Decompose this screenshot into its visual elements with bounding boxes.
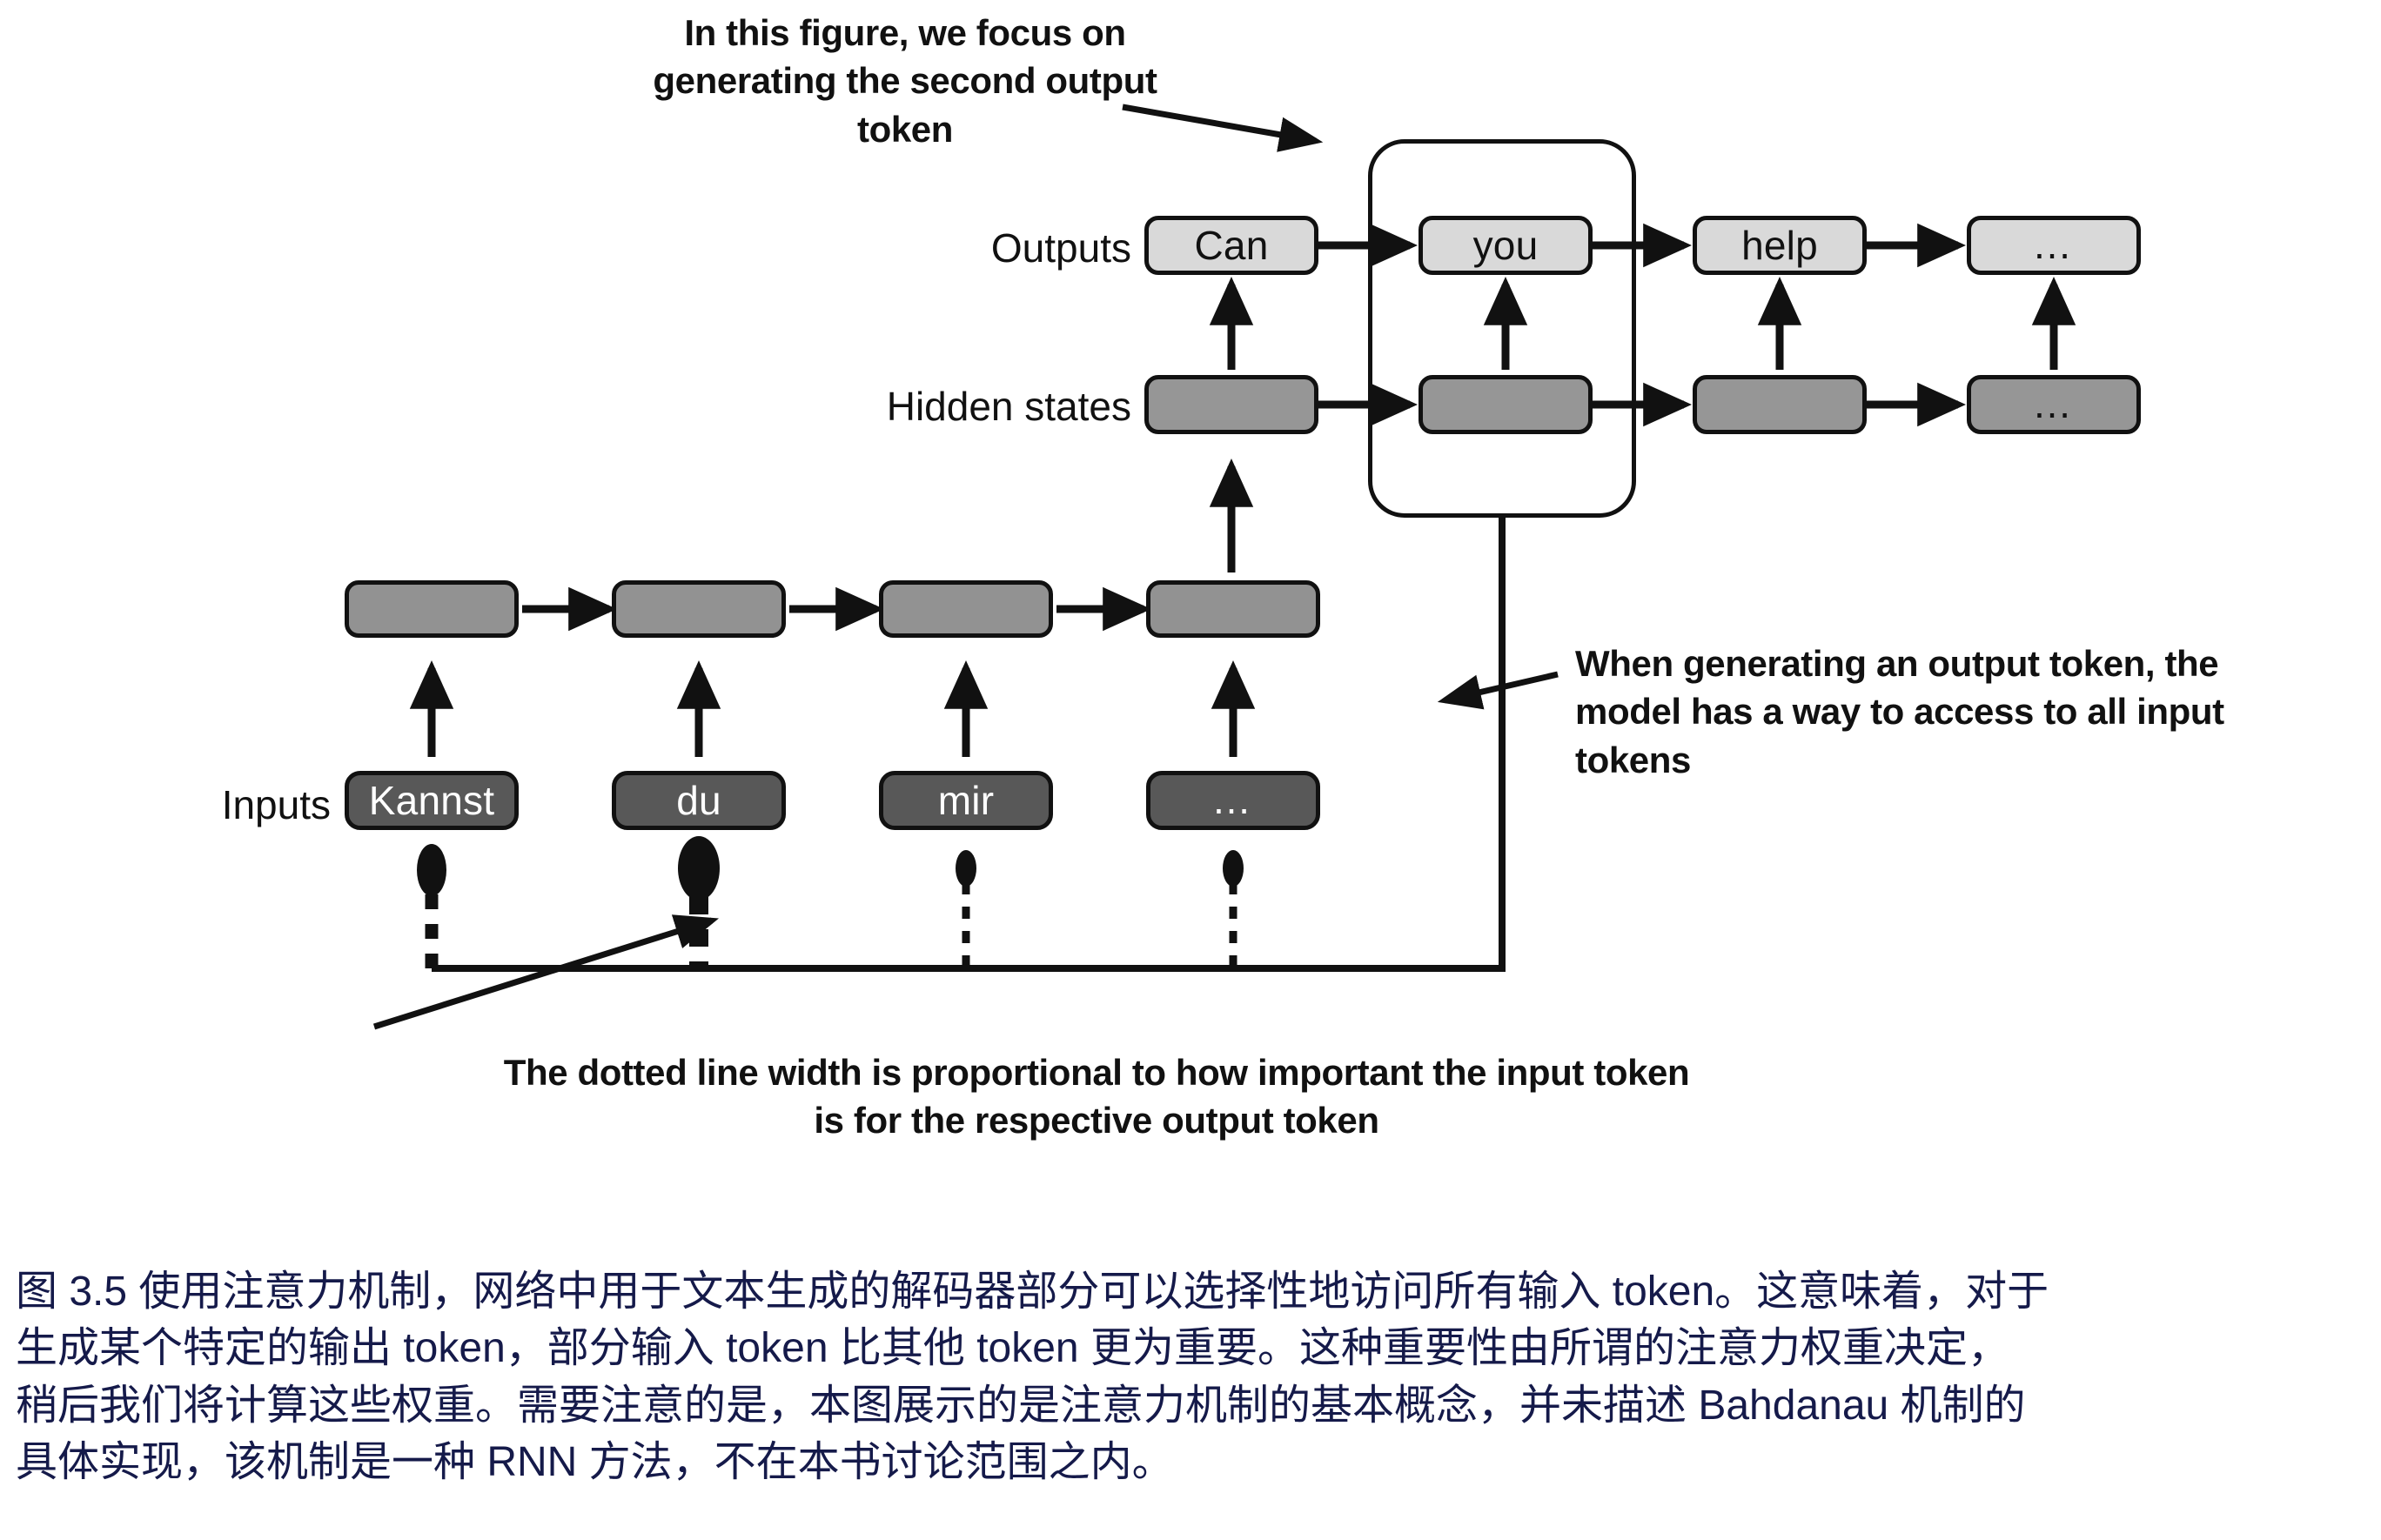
input-token-mir-label: mir xyxy=(938,777,994,824)
attention-line-du xyxy=(678,836,720,968)
output-token-1[interactable]: Can xyxy=(1144,216,1318,275)
output-token-1-label: Can xyxy=(1195,222,1269,269)
hidden-to-output-arrows xyxy=(1231,285,2054,370)
caption-line-1: 图 3.5 使用注意力机制，网络中用于文本生成的解码器部分可以选择性地访问所有输… xyxy=(16,1263,2365,1320)
callout-access-all-input-tokens: When generating an output token, the mod… xyxy=(1575,639,2289,784)
input-token-ellipsis-label: … xyxy=(1211,788,1255,813)
row-label-hidden-states: Hidden states xyxy=(801,383,1131,430)
output-token-3[interactable]: help xyxy=(1693,216,1867,275)
caption-line-4: 具体实现，该机制是一种 RNN 方法，不在本书讨论范围之内。 xyxy=(16,1434,2365,1490)
hidden-state-3[interactable] xyxy=(1693,375,1867,434)
attention-line-mir xyxy=(956,850,976,968)
attention-line-kannst xyxy=(417,844,446,968)
row-label-outputs: Outputs xyxy=(905,224,1131,271)
input-token-du-label: du xyxy=(676,777,721,824)
callout-dotted-line-width: The dotted line width is proportional to… xyxy=(487,1048,1706,1145)
attention-line-ellipsis xyxy=(1223,850,1244,968)
encoder-state-2[interactable] xyxy=(612,580,786,638)
figure-page: Outputs Hidden states Inputs Can you hel… xyxy=(0,0,2381,1540)
encoder-state-4[interactable] xyxy=(1146,580,1320,638)
caption-line-3: 稍后我们将计算这些权重。需要注意的是，本图展示的是注意力机制的基本概念，并未描述… xyxy=(16,1377,2365,1434)
input-to-encoder-arrows xyxy=(432,668,1233,757)
focus-frame-second-output-token xyxy=(1368,139,1636,518)
hidden-state-2[interactable] xyxy=(1419,375,1593,434)
input-token-mir[interactable]: mir xyxy=(879,771,1053,830)
input-token-kannst[interactable]: Kannst xyxy=(345,771,519,830)
output-token-3-label: help xyxy=(1741,222,1818,269)
hidden-state-4[interactable]: … xyxy=(1967,375,2141,434)
output-token-4[interactable]: … xyxy=(1967,216,2141,275)
attention-diagram: Outputs Hidden states Inputs Can you hel… xyxy=(0,0,2381,1218)
callout-focus-second-output-token: In this figure, we focus on generating t… xyxy=(644,9,1166,153)
figure-caption: 图 3.5 使用注意力机制，网络中用于文本生成的解码器部分可以选择性地访问所有输… xyxy=(16,1263,2365,1490)
output-token-2-label: you xyxy=(1473,222,1539,269)
hidden-state-1[interactable] xyxy=(1144,375,1318,434)
output-token-4-label: … xyxy=(2032,233,2076,258)
input-token-du[interactable]: du xyxy=(612,771,786,830)
encoder-state-1[interactable] xyxy=(345,580,519,638)
callout-bottom-leader xyxy=(374,921,712,1027)
input-token-ellipsis[interactable]: … xyxy=(1146,771,1320,830)
encoder-state-3[interactable] xyxy=(879,580,1053,638)
output-token-2[interactable]: you xyxy=(1419,216,1593,275)
input-token-kannst-label: Kannst xyxy=(369,777,494,824)
hidden-state-4-label: … xyxy=(2032,392,2076,417)
caption-line-2: 生成某个特定的输出 token，部分输入 token 比其他 token 更为重… xyxy=(16,1320,2365,1376)
row-label-inputs: Inputs xyxy=(113,781,331,828)
